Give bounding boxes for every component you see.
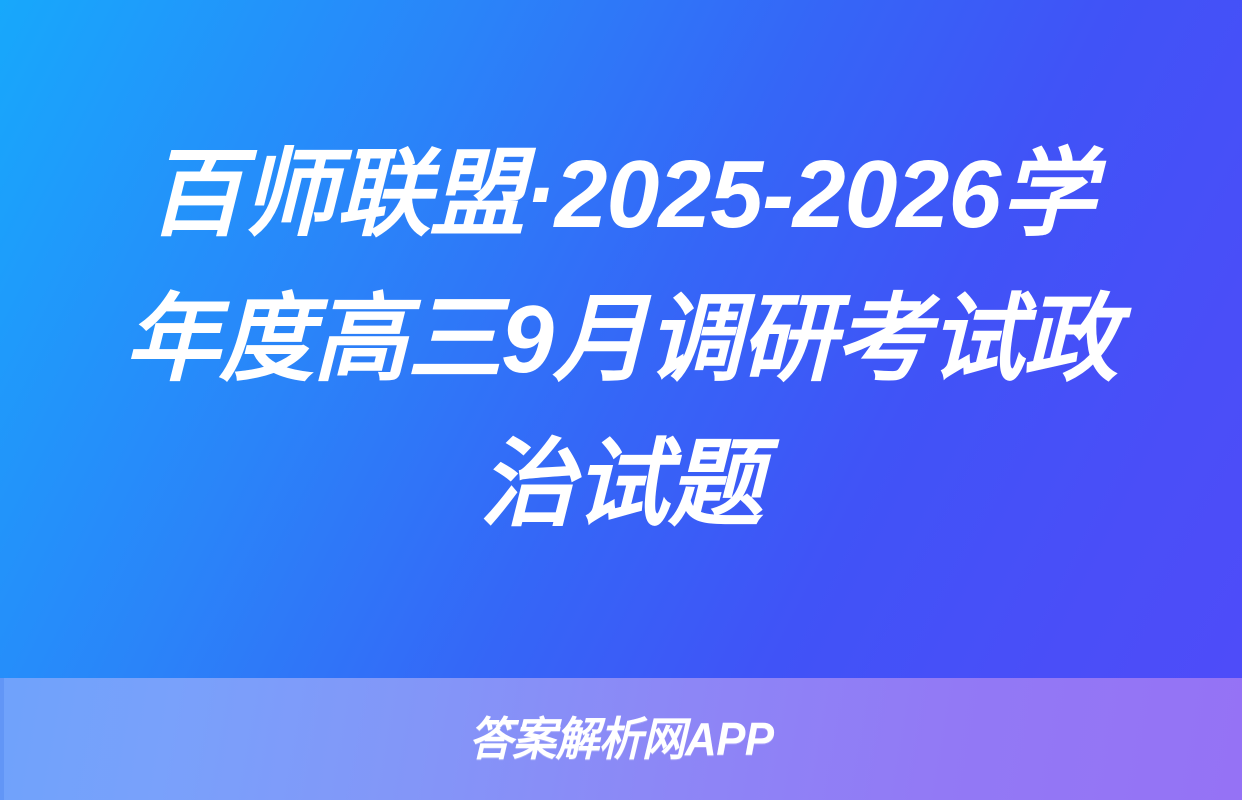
hero-content: 百师联盟·2025-2026学 年度高三9月调研考试政 治试题 [0, 0, 1242, 678]
page-title: 百师联盟·2025-2026学 年度高三9月调研考试政 治试题 [91, 122, 1151, 557]
footer-watermark-band: 答案解析网APP [0, 678, 1242, 800]
app-watermark-label: 答案解析网APP [469, 716, 774, 762]
poster-card: 百师联盟·2025-2026学 年度高三9月调研考试政 治试题 答案解析网APP [0, 0, 1242, 800]
title-line-1: 百师联盟·2025-2026学 [96, 122, 1145, 267]
title-line-2: 年度高三9月调研考试政 [96, 267, 1145, 412]
title-line-3: 治试题 [96, 412, 1145, 557]
